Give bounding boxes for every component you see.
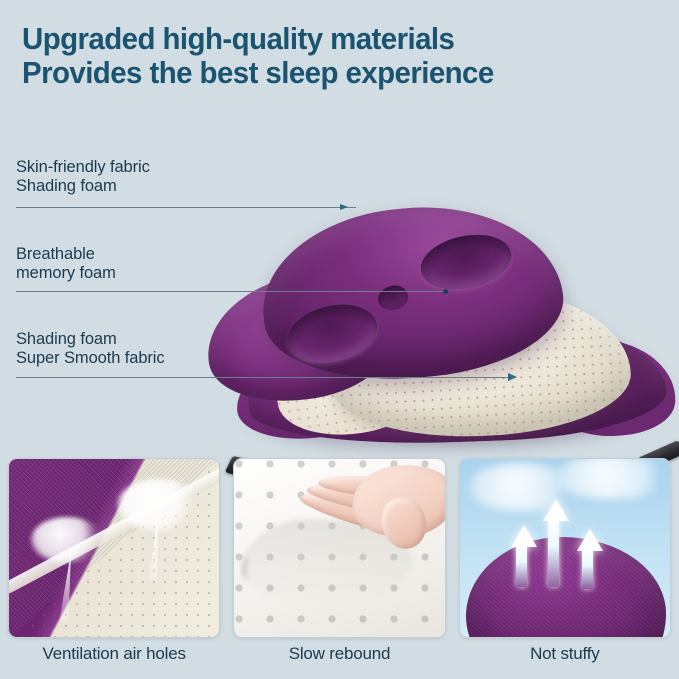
callout-3-line-2: Super Smooth fabric (16, 349, 165, 368)
callout-3-line-1: Shading foam (16, 330, 165, 349)
page-title-line-1: Upgraded high-quality materials (22, 21, 454, 56)
callout-label-breathable-memory-foam: Breathable memory foam (16, 245, 116, 283)
callout-2-line-2: memory foam (16, 264, 116, 283)
steam-cloud-left-icon (31, 517, 103, 563)
callout-label-skin-friendly-fabric: Skin-friendly fabric Shading foam (16, 158, 150, 196)
panel-captions: Ventilation air holes Slow rebound Not s… (0, 644, 679, 664)
callout-2-leader-line (16, 291, 446, 292)
caption-slow-rebound: Slow rebound (233, 644, 445, 664)
callout-1-line-2: Shading foam (16, 177, 150, 196)
steam-cloud-right-icon (117, 479, 201, 531)
callout-label-shading-foam-super-smooth: Shading foam Super Smooth fabric (16, 330, 165, 368)
callout-1-line-1: Skin-friendly fabric (16, 158, 150, 177)
feature-panel-ventilation[interactable] (8, 458, 220, 638)
callout-1-arrow-icon (340, 204, 348, 210)
callout-2-line-1: Breathable (16, 245, 116, 264)
caption-ventilation-air-holes: Ventilation air holes (8, 644, 220, 664)
callout-2-dot-icon (443, 289, 448, 294)
callout-3-arrow-icon (508, 373, 517, 381)
feature-panel-slow-rebound[interactable] (233, 458, 445, 638)
cloud-icon-right (552, 458, 671, 499)
feature-panel-not-stuffy[interactable] (459, 458, 671, 638)
callout-1-leader-line (16, 207, 356, 208)
page-title-line-2: Provides the best sleep experience (22, 56, 630, 90)
feature-panels (0, 458, 679, 638)
callout-3-leader-line (16, 377, 510, 378)
purple-mask-photo (466, 537, 666, 638)
page-title: Upgraded high-quality materials Provides… (22, 22, 630, 90)
caption-not-stuffy: Not stuffy (459, 644, 671, 664)
